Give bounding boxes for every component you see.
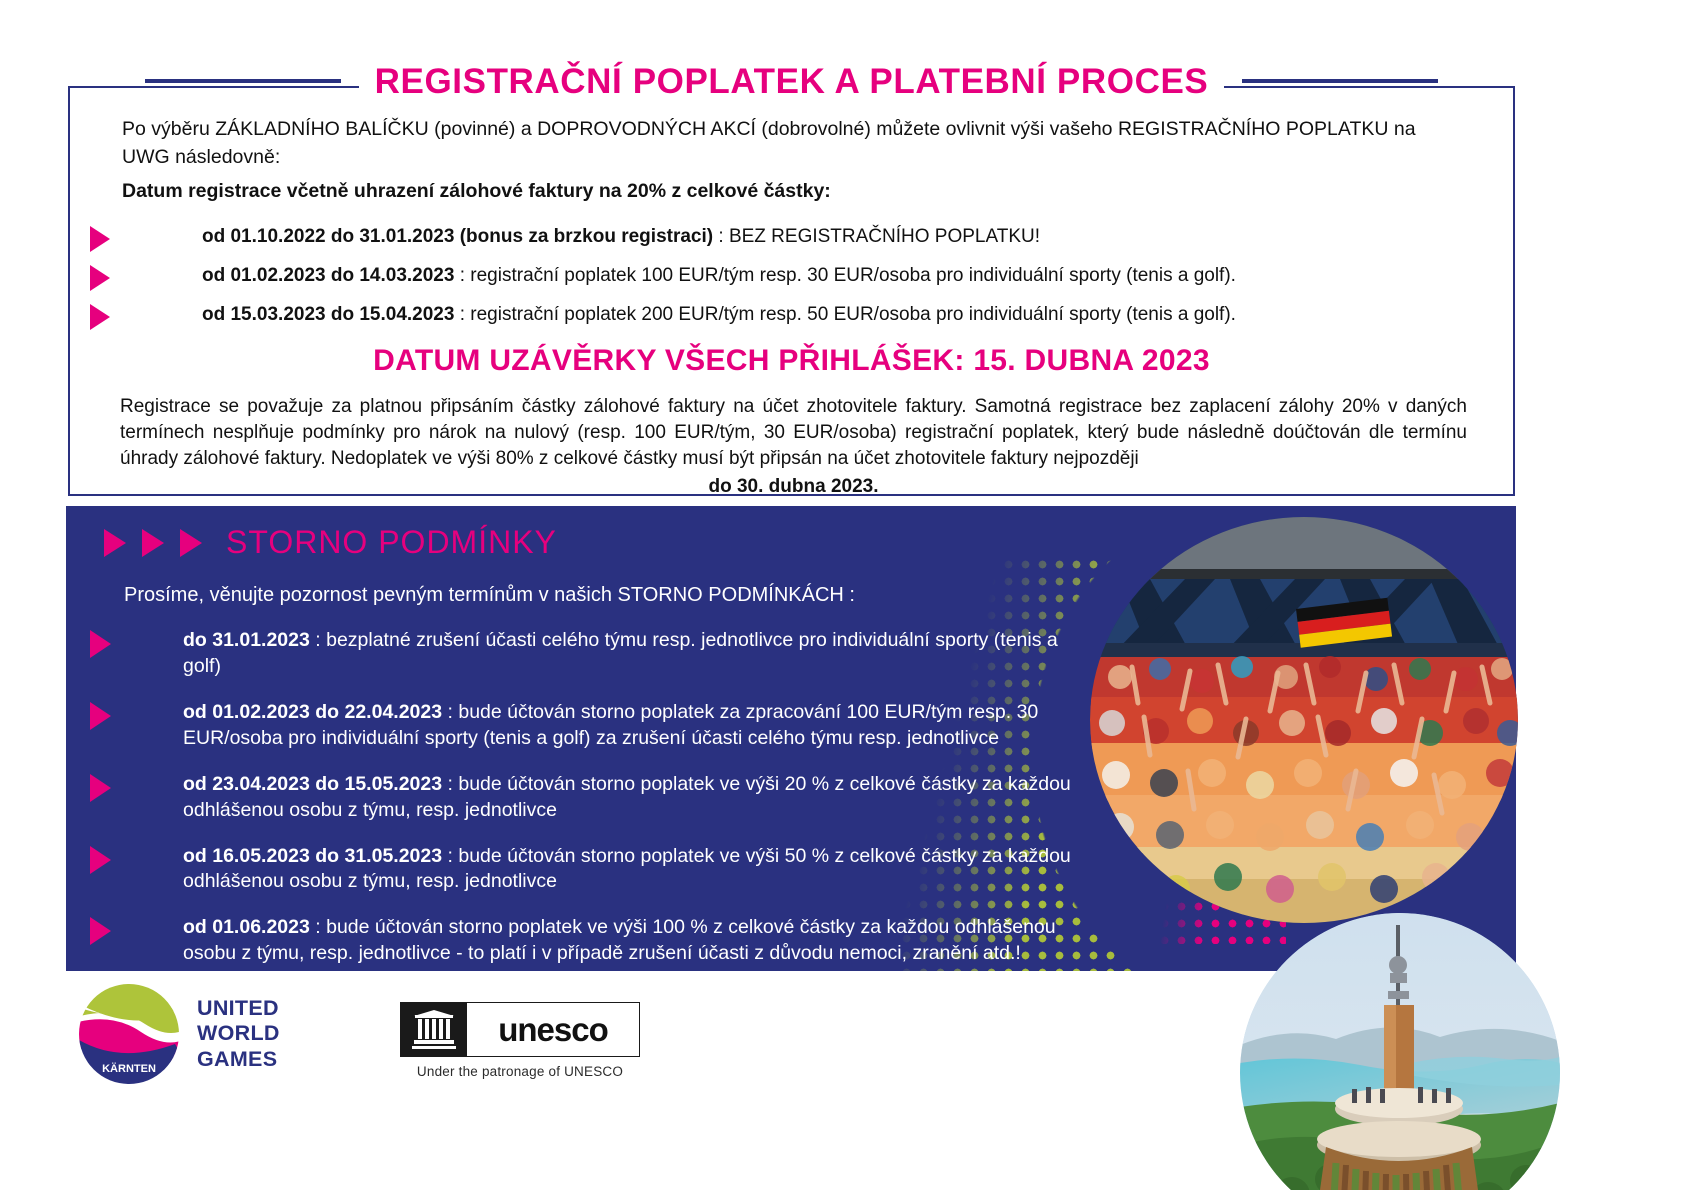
storno-list: do 31.01.2023 : bezplatné zrušení účasti… [90, 628, 1100, 971]
storno-period: od 16.05.2023 do 31.05.2023 [183, 845, 442, 867]
storno-period: od 23.04.2023 do 15.05.2023 [183, 773, 442, 795]
unesco-wordmark: unesco [467, 1003, 639, 1056]
triangle-bullet-icon [142, 529, 164, 557]
fee-description: : BEZ REGISTRAČNÍHO POPLATKU! [713, 226, 1040, 247]
list-item: od 23.04.2023 do 15.05.2023 : bude účtov… [90, 772, 1100, 824]
application-deadline-heading: DATUM UZÁVĚRKY VŠECH PŘIHLÁŠEK: 15. DUBN… [70, 344, 1513, 378]
page-title: REGISTRAČNÍ POPLATEK A PLATEBNÍ PROCES [359, 64, 1225, 99]
registration-fee-panel: Po výběru ZÁKLADNÍHO BALÍČKU (povinné) a… [68, 86, 1515, 496]
storno-period: od 01.02.2023 do 22.04.2023 [183, 701, 442, 723]
fee-period: od 01.10.2022 do 31.01.2023 (bonus za br… [202, 226, 713, 247]
fee-description: : registrační poplatek 100 EUR/tým resp.… [454, 265, 1236, 286]
storno-description: : bezplatné zrušení účasti celého týmu r… [183, 629, 1058, 677]
crowd-photo [1090, 517, 1518, 923]
list-item: od 01.10.2022 do 31.01.2023 (bonus za br… [90, 225, 1490, 252]
notice-final-date: do 30. dubna 2023. [120, 474, 1467, 500]
title-rule-left [145, 79, 341, 83]
title-rule-right [1242, 79, 1438, 83]
unesco-caption: Under the patronage of UNESCO [400, 1064, 640, 1079]
storno-title: STORNO PODMÍNKY [226, 524, 557, 561]
unesco-logo: unesco Under the patronage of UNESCO [400, 1002, 640, 1079]
fee-period: od 01.02.2023 do 14.03.2023 [202, 265, 454, 286]
triangle-bullet-icon [180, 529, 202, 557]
list-item: od 01.02.2023 do 14.03.2023 : registračn… [90, 264, 1490, 291]
triangle-bullet-icon [90, 846, 111, 874]
uwg-badge-text: KÄRNTEN [102, 1062, 156, 1075]
notice-body: Registrace se považuje za platnou připsá… [120, 396, 1467, 469]
uwg-wordmark: UNITED WORLD GAMES [197, 996, 280, 1072]
list-item: od 01.02.2023 do 22.04.2023 : bude účtov… [90, 700, 1100, 752]
triangle-bullet-icon [90, 917, 111, 945]
triangle-bullet-icon [90, 304, 110, 330]
list-item: od 01.06.2023 : bude účtován storno popl… [90, 915, 1100, 967]
fee-list: od 01.10.2022 do 31.01.2023 (bonus za br… [90, 225, 1490, 342]
triangle-bullet-icon [90, 226, 110, 252]
registration-date-subheading: Datum registrace včetně uhrazení zálohov… [122, 180, 831, 203]
list-item: od 16.05.2023 do 31.05.2023 : bude účtov… [90, 844, 1100, 896]
triangle-bullet-icon [90, 774, 111, 802]
storno-lead-text: Prosíme, věnujte pozornost pevným termín… [124, 584, 855, 607]
unesco-temple-icon [401, 1003, 467, 1056]
triangle-bullet-icon [104, 529, 126, 557]
uwg-line-3: GAMES [197, 1047, 280, 1072]
list-item: do 31.01.2023 : bezplatné zrušení účasti… [90, 628, 1100, 680]
united-world-games-logo: KÄRNTEN UNITED WORLD GAMES [75, 980, 280, 1088]
registration-notice-paragraph: Registrace se považuje za platnou připsá… [120, 394, 1467, 500]
fee-description: : registrační poplatek 200 EUR/tým resp.… [454, 304, 1236, 325]
fee-period: od 15.03.2023 do 15.04.2023 [202, 304, 454, 325]
storno-description: : bude účtován storno poplatek ve výši 1… [183, 916, 1056, 964]
intro-paragraph: Po výběru ZÁKLADNÍHO BALÍČKU (povinné) a… [122, 116, 1467, 171]
storno-period: do 31.01.2023 [183, 629, 310, 651]
uwg-globe-icon: KÄRNTEN [75, 980, 183, 1088]
triangle-bullet-icon [90, 702, 111, 730]
uwg-line-1: UNITED [197, 996, 280, 1021]
uwg-line-2: WORLD [197, 1021, 280, 1046]
triangle-bullet-icon [90, 265, 110, 291]
storno-period: od 01.06.2023 [183, 916, 310, 938]
list-item: od 15.03.2023 do 15.04.2023 : registračn… [90, 303, 1490, 330]
logo-row: KÄRNTEN UNITED WORLD GAMES [70, 980, 770, 1110]
page-title-row: REGISTRAČNÍ POPLATEK A PLATEBNÍ PROCES [68, 52, 1515, 110]
storno-heading-row: STORNO PODMÍNKY [104, 524, 557, 561]
triangle-bullet-icon [90, 630, 111, 658]
poster-page: Po výběru ZÁKLADNÍHO BALÍČKU (povinné) a… [0, 0, 1683, 1190]
